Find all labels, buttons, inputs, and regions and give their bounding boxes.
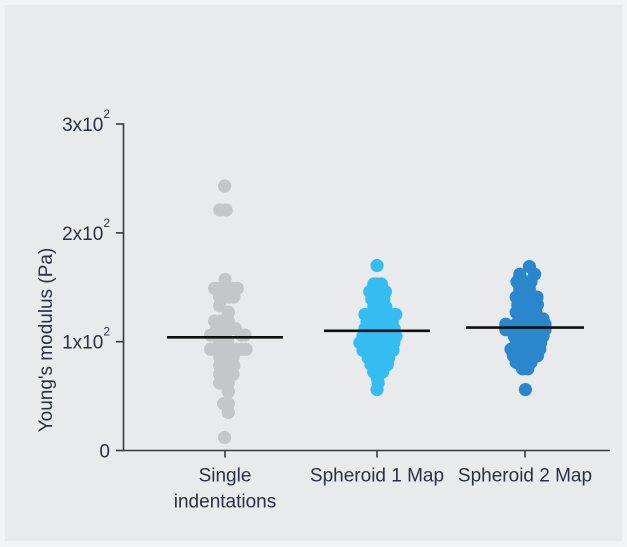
data-point [218,431,231,444]
figure-container: 01x1022x1023x102 Young's modulus (Pa) Si… [0,0,627,547]
y-tick-label: 3x102 [62,107,110,136]
scatter-plot: 01x1022x1023x102 Young's modulus (Pa) Si… [0,0,627,547]
x-category-label-2: Spheroid 1 Map [310,466,444,487]
data-point [519,383,532,396]
y-tick-group: 01x1022x1023x102 [62,107,123,463]
data-point [227,290,240,303]
y-tick-label: 1x102 [62,325,110,354]
x-category-label-3: Spheroid 2 Map [458,466,592,487]
data-point [239,343,252,356]
data-point [370,259,383,272]
y-tick-label: 2x102 [62,216,110,245]
series-2-points [353,259,402,396]
x-tick-group: SingleindentationsSpheroid 1 MapSpheroid… [174,451,592,513]
data-point [220,203,233,216]
series-1-points [204,179,253,444]
data-point [222,406,235,419]
data-point [238,329,251,342]
data-point [370,383,383,396]
y-tick-label: 0 [99,442,110,463]
data-point [218,179,231,192]
y-axis-title: Young's modulus (Pa) [36,248,57,433]
x-category-label-1: Singleindentations [174,466,276,513]
data-point [222,385,235,398]
data-series-layer [204,179,552,444]
data-point [521,362,534,375]
